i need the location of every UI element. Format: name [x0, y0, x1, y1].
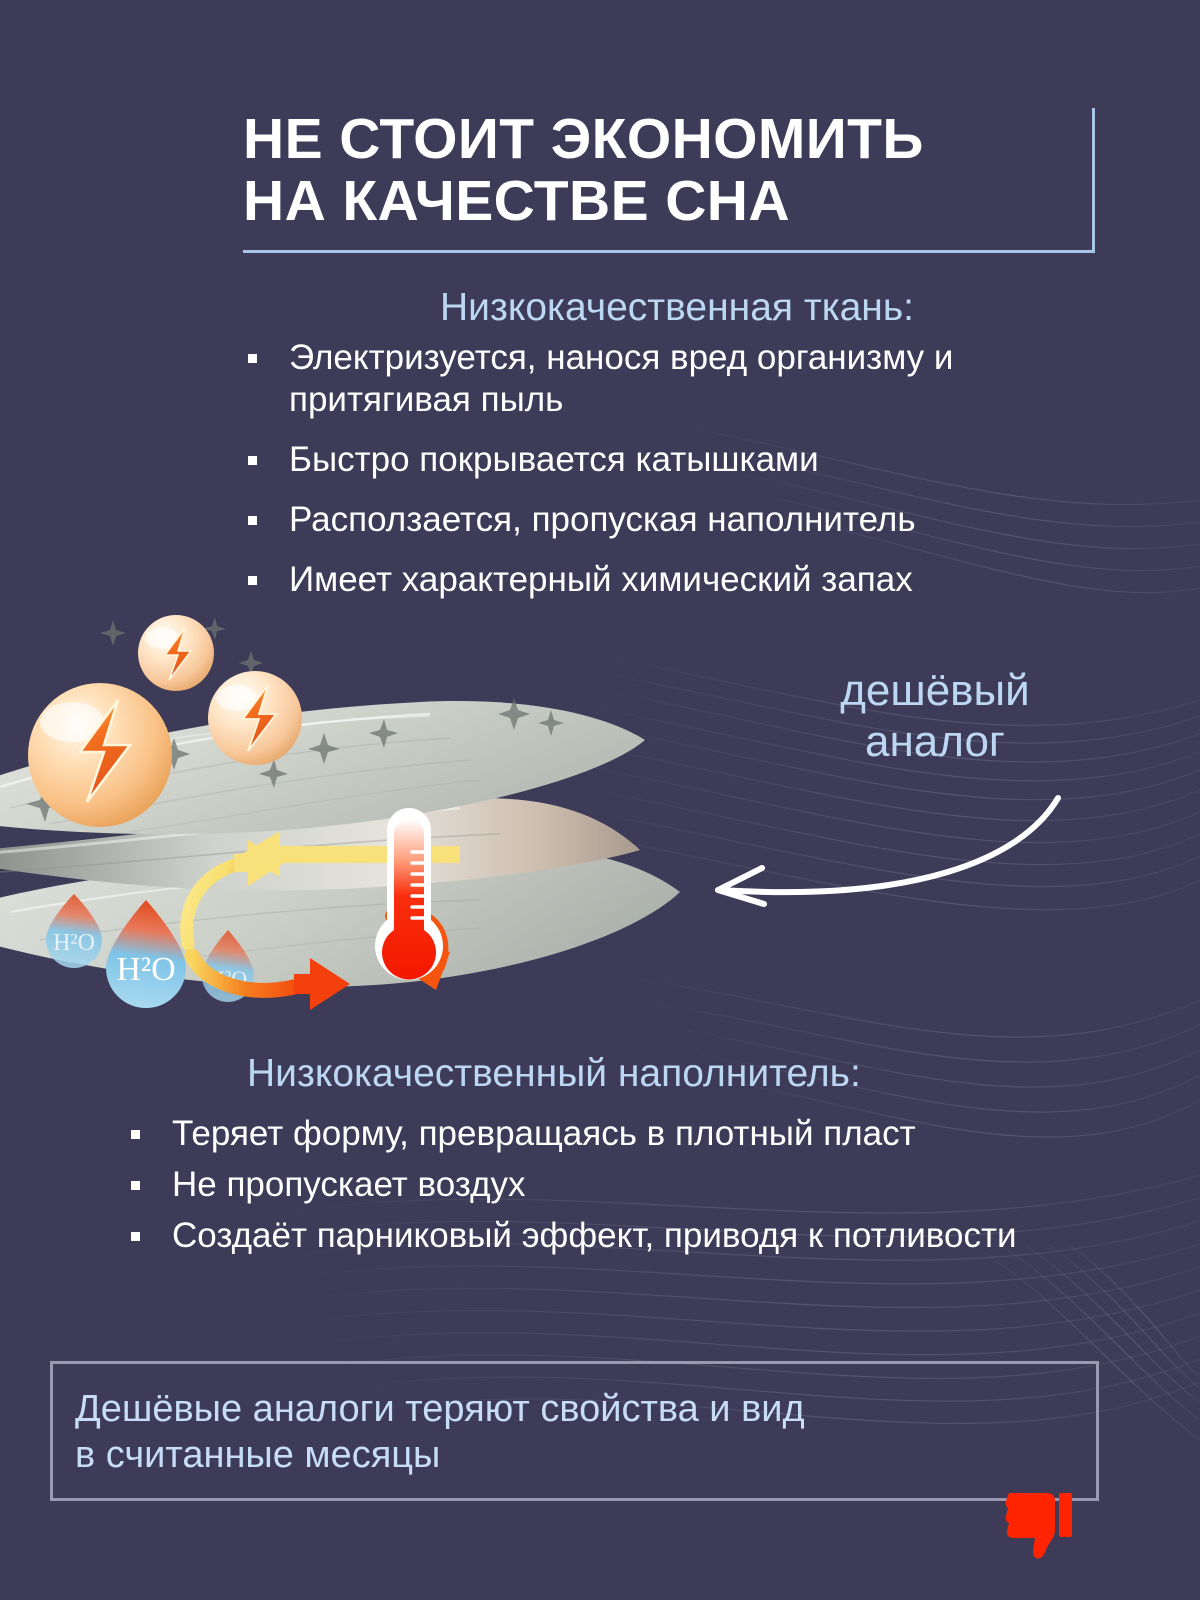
list-item: Создаёт парниковый эффект, приводя к пот…: [120, 1215, 1100, 1257]
lightning-bolt-sphere-icon: [138, 615, 214, 691]
list-item: Теряет форму, превращаясь в плотный плас…: [120, 1113, 1100, 1155]
conclusion-line-1: Дешёвые аналоги теряют свойства и вид: [75, 1386, 1096, 1432]
title-line-2: НА КАЧЕСТВЕ СНА: [243, 170, 1074, 232]
curved-left-arrow-icon: [660, 790, 1080, 920]
list-item: Не пропускает воздух: [120, 1164, 1100, 1206]
lightning-bolt-sphere-icon: [208, 671, 302, 765]
svg-text:H²O: H²O: [53, 930, 95, 956]
page-title: НЕ СТОИТ ЭКОНОМИТЬ НА КАЧЕСТВЕ СНА: [243, 108, 1095, 253]
title-line-1: НЕ СТОИТ ЭКОНОМИТЬ: [243, 108, 1074, 170]
cheap-analog-callout: дешёвый аналог: [770, 665, 1100, 767]
fabric-defects-list: Электризуется, нанося вред организму и п…: [237, 337, 1097, 619]
callout-line-2: аналог: [770, 716, 1100, 767]
callout-line-1: дешёвый: [770, 665, 1100, 716]
list-item: Расползается, пропуская наполнитель: [237, 499, 1097, 541]
section-heading-fabric: Низкокачественная ткань:: [440, 287, 914, 330]
infographic-poster: НЕ СТОИТ ЭКОНОМИТЬ НА КАЧЕСТВЕ СНА Низко…: [0, 0, 1200, 1600]
section-heading-filler: Низкокачественный наполнитель:: [247, 1053, 861, 1096]
thumbs-down-icon: [1003, 1487, 1075, 1563]
conclusion-box: Дешёвые аналоги теряют свойства и вид в …: [50, 1361, 1099, 1501]
filler-defects-list: Теряет форму, превращаясь в плотный плас…: [120, 1113, 1100, 1266]
fabric-layers-illustration: H²O H²O H²O: [0, 600, 700, 1060]
conclusion-line-2: в считанные месяцы: [75, 1432, 1096, 1478]
list-item: Быстро покрывается катышками: [237, 439, 1097, 481]
lightning-bolt-sphere-icon: [28, 683, 172, 827]
svg-text:H²O: H²O: [116, 951, 175, 988]
list-item: Имеет характерный химический запах: [237, 559, 1097, 601]
list-item: Электризуется, нанося вред организму и п…: [237, 337, 1097, 421]
